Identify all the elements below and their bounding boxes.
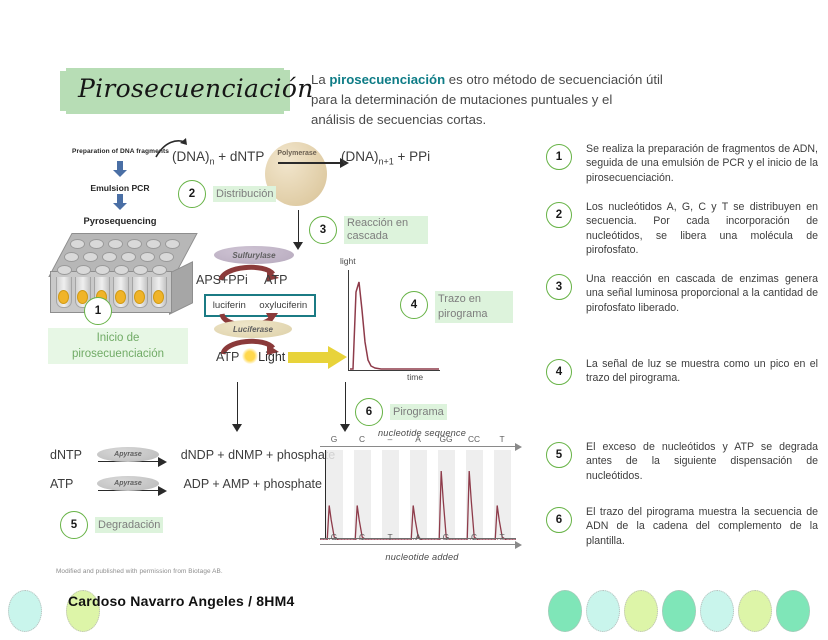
- step-number-4: 4: [546, 359, 572, 385]
- intro-lead: La: [311, 72, 329, 87]
- down-arrow-icon-3: [293, 210, 303, 250]
- eq-right-main: (DNA): [341, 149, 379, 164]
- pyrogram-bottom-tick: C: [463, 532, 485, 542]
- apyrase-enzyme-1: Apyrase: [97, 447, 159, 462]
- pyrogram-top-axis: [320, 446, 516, 447]
- light-chart-ylabel: light: [340, 256, 356, 266]
- decorative-circle: [662, 590, 696, 632]
- badge-2-distribucion: 2 Distribución: [178, 180, 276, 208]
- pyrogram-top-tick: A: [407, 434, 429, 444]
- intro-line3: análisis de secuencias cortas.: [311, 112, 486, 127]
- pyrogram-bottom-tick: C: [351, 532, 373, 542]
- page-title: Pirosecuenciación: [78, 74, 288, 103]
- step-text-4: La señal de luz se muestra como un pico …: [586, 357, 818, 386]
- eq-right-sub: n+1: [379, 157, 394, 167]
- apyrase-enzyme-2: Apyrase: [97, 476, 159, 491]
- step-item-4: 4 La señal de luz se muestra como un pic…: [546, 357, 818, 386]
- step-number-5: 5: [546, 442, 572, 468]
- step-text-6: El trazo del pirograma muestra la secuen…: [586, 505, 818, 548]
- step-item-3: 3 Una reacción en cascada de enzimas gen…: [546, 272, 818, 315]
- pyrogram-bottom-tick: A: [407, 532, 429, 542]
- inicio-line-2: pirosecuenciación: [72, 348, 164, 360]
- light-text: Light: [258, 350, 285, 364]
- step-text-2: Los nucleótidos A, G, C y T se distribuy…: [586, 200, 818, 258]
- decorative-circle: [776, 590, 810, 632]
- badge-label-4: Trazo en pirograma: [435, 291, 513, 323]
- light-chart-xlabel: time: [407, 372, 423, 382]
- badge-label-5: Degradación: [95, 517, 163, 533]
- atp2-text: ATP: [216, 350, 239, 364]
- badge-4-trazo-pirograma: 4 Trazo en pirograma: [400, 291, 513, 323]
- decorative-circle: [738, 590, 772, 632]
- pyrogram-trace: [320, 450, 516, 540]
- author-name: Cardoso Navarro Angeles / 8HM4: [68, 593, 294, 609]
- pyrogram-top-tick: GG: [435, 434, 457, 444]
- aps-text: APS+PPi: [196, 273, 248, 287]
- label-emulsion-pcr: Emulsion PCR: [70, 183, 170, 193]
- pyrogram-xlabel: nucleotide added: [318, 552, 526, 562]
- label-pyrosequencing: Pyrosequencing: [62, 215, 178, 226]
- step-number-2: 2: [546, 202, 572, 228]
- step-number-3: 3: [546, 274, 572, 300]
- pyrogram-bottom-tick: G: [435, 532, 457, 542]
- degradation-substrate-1: dNTP: [50, 448, 82, 462]
- decorative-circle: [8, 590, 42, 632]
- step-number-1: 1: [546, 144, 572, 170]
- aps-ppi-label: APS+PPi ATP: [196, 273, 287, 287]
- light-glow-icon: [242, 348, 258, 364]
- luciferin-label: luciferin: [213, 300, 246, 311]
- decorative-circle: [586, 590, 620, 632]
- badge-1: 1: [84, 297, 112, 325]
- pyrogram-peak-path: [320, 471, 516, 540]
- badge-label-3: Reacción en cascada: [344, 216, 428, 244]
- degradation-products-1: dNDP + dNMP + phosphate: [181, 448, 336, 462]
- down-arrow-icon-5: [340, 382, 350, 432]
- pyrogram-top-tick: CC: [463, 434, 485, 444]
- equation-right-side: (DNA)n+1 + PPi: [341, 149, 430, 167]
- inicio-line-1: Inicio de: [97, 332, 140, 344]
- decorative-circle: [548, 590, 582, 632]
- step-text-3: Una reacción en cascada de enzimas gener…: [586, 272, 818, 315]
- step-item-5: 5 El exceso de nucleótidos y ATP se degr…: [546, 440, 818, 483]
- step-item-2: 2 Los nucleótidos A, G, C y T se distrib…: [546, 200, 818, 258]
- pyrogram-top-tick: T: [491, 434, 513, 444]
- badge-number-1: 1: [84, 297, 112, 325]
- eq-left-tail: + dNTP: [215, 149, 265, 164]
- intro-line2: para la determinación de mutaciones punt…: [311, 92, 612, 107]
- badge-label-2: Distribución: [213, 186, 276, 202]
- eq-left-main: (DNA): [172, 149, 210, 164]
- badge-label-6: Pirograma: [390, 404, 447, 420]
- pyrogram-top-tick: C: [351, 434, 373, 444]
- pyrogram-bottom-tick: T: [491, 532, 513, 542]
- apyrase-arrow-head-2: [158, 486, 167, 496]
- step-item-6: 6 El trazo del pirograma muestra la secu…: [546, 505, 818, 548]
- equation-left-side: (DNA)n + dNTP: [172, 149, 264, 167]
- pyrogram-top-axis-arrow: [515, 443, 522, 451]
- pyrogram-top-tick: –: [379, 434, 401, 444]
- reaction-arrow-line: [278, 162, 342, 164]
- pyrogram-bottom-tick: T: [379, 532, 401, 542]
- intro-rest: es otro método de secuenciación útil: [445, 72, 663, 87]
- decorative-circle: [624, 590, 658, 632]
- badge-number-6: 6: [355, 398, 383, 426]
- pyrosequencing-plate-illustration: [48, 233, 194, 325]
- apyrase-arrow-head-1: [158, 457, 167, 467]
- pyrogram-top-tick: G: [323, 434, 345, 444]
- badge-number-2: 2: [178, 180, 206, 208]
- label-inicio-pirosecuenciacion: Inicio de pirosecuenciación: [48, 328, 188, 364]
- eq-right-tail: + PPi: [394, 149, 430, 164]
- pyrogram-chart: nucleotide sequence GC–AGGCCT GCTAGCT nu…: [318, 428, 526, 562]
- pyrogram-bottom-axis-arrow: [515, 541, 522, 549]
- oxyluciferin-label: oxyluciferin: [259, 300, 307, 311]
- badge-5-degradacion: 5 Degradación: [60, 511, 163, 539]
- degradation-row-1: dNTP dNDP + dNMP + phosphate: [50, 448, 335, 462]
- pyrogram-bottom-axis: [320, 544, 516, 545]
- badge-number-3: 3: [309, 216, 337, 244]
- down-arrow-icon-4: [232, 382, 242, 432]
- atp-text: ATP: [264, 273, 287, 287]
- step-text-5: El exceso de nucleótidos y ATP se degrad…: [586, 440, 818, 483]
- intro-keyword: pirosecuenciación: [329, 72, 445, 87]
- degradation-products-2: ADP + AMP + phosphate: [183, 477, 322, 491]
- credit-line: Modified and published with permission f…: [56, 568, 223, 575]
- step-item-1: 1 Se realiza la preparación de fragmento…: [546, 142, 818, 185]
- badge-6-pirograma: 6 Pirograma: [355, 398, 447, 426]
- polymerase-label: Polymerase: [270, 150, 324, 157]
- pyrogram-bottom-tick: G: [323, 532, 345, 542]
- step-text-1: Se realiza la preparación de fragmentos …: [586, 142, 818, 185]
- degradation-row-2: ATP ADP + AMP + phosphate: [50, 477, 322, 491]
- badge-number-5: 5: [60, 511, 88, 539]
- badge-3-reaccion-cascada: 3 Reacción en cascada: [309, 216, 428, 244]
- badge-number-4: 4: [400, 291, 428, 319]
- step-number-6: 6: [546, 507, 572, 533]
- degradation-substrate-2: ATP: [50, 477, 73, 491]
- intro-paragraph: La pirosecuenciación es otro método de s…: [311, 70, 811, 130]
- decorative-circle: [700, 590, 734, 632]
